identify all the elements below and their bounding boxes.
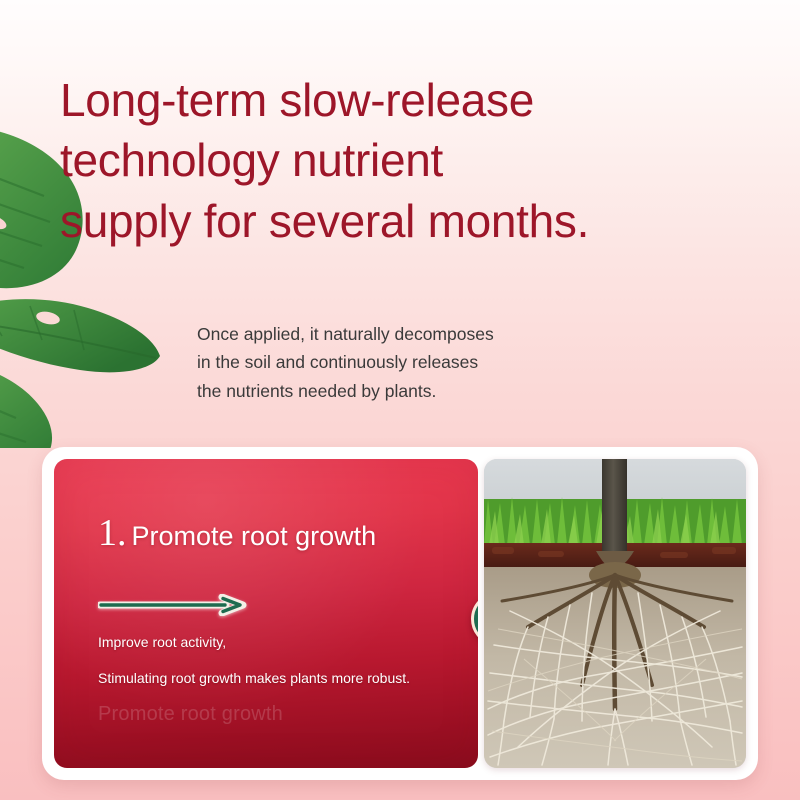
feature-card-1: 1. Promote root growth Improve root acti… [42,447,758,780]
headline-line-1: Long-term slow-release [60,70,760,130]
right-arrow-icon [98,594,250,616]
feature-card-red-panel: 1. Promote root growth Improve root acti… [54,459,478,768]
bullet-2: Stimulating root growth makes plants mor… [98,671,410,685]
feature-card-heading: 1. Promote root growth [98,514,376,552]
bullet-1: Improve root activity, [98,635,410,649]
feature-card-title: Promote root growth [132,523,377,550]
tree-root-cross-section-photo [484,459,746,768]
subheading-paragraph: Once applied, it naturally decomposes in… [197,320,647,405]
headline-line-2: technology nutrient [60,130,760,190]
feature-card-number: 1. [98,514,127,552]
page-title: Long-term slow-release technology nutrie… [60,70,760,251]
subcopy-line-2: in the soil and continuously releases [197,348,647,376]
subcopy-line-3: the nutrients needed by plants. [197,377,647,405]
subcopy-line-1: Once applied, it naturally decomposes [197,320,647,348]
step-badge-1: 1 [471,592,478,646]
feature-card-bullets: Improve root activity, Stimulating root … [98,635,410,707]
headline-line-3: supply for several months. [60,191,760,251]
